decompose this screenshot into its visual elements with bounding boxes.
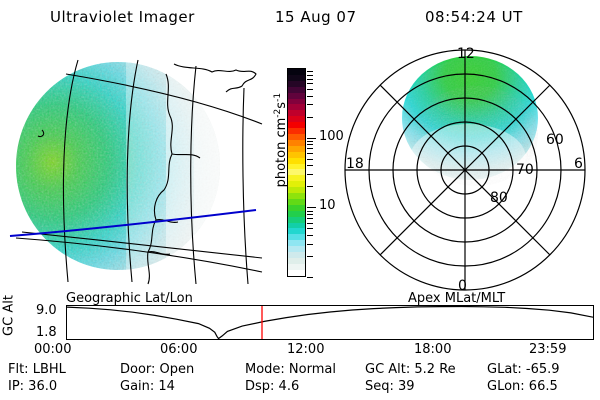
colorbar-minor-tick bbox=[307, 256, 313, 257]
status-field-ip: IP: 36.0 bbox=[8, 379, 57, 394]
geographic-image-panel[interactable] bbox=[6, 44, 264, 292]
colorbar-major-tick bbox=[307, 138, 316, 139]
colorbar-minor-tick bbox=[307, 228, 313, 229]
status-field-seq: Seq: 39 bbox=[365, 379, 415, 394]
orbit-altitude-curve bbox=[67, 307, 593, 339]
colorbar-minor-tick bbox=[307, 144, 313, 145]
colorbar-minor-tick bbox=[307, 75, 313, 76]
status-field-gain: Gain: 14 bbox=[120, 379, 175, 394]
colorbar-minor-tick bbox=[307, 277, 313, 278]
colorbar-minor-tick bbox=[307, 159, 313, 160]
colorbar-minor-tick bbox=[307, 153, 313, 154]
status-field-glon: GLon: 66.5 bbox=[487, 379, 558, 394]
status-field-dsp: Dsp: 4.6 bbox=[245, 379, 299, 394]
colorbar-minor-tick bbox=[307, 235, 313, 236]
mlt-label-18: 18 bbox=[346, 156, 364, 172]
colorbar-minor-tick bbox=[307, 223, 313, 224]
status-field-flt: Flt: LBHL bbox=[8, 362, 66, 377]
colorbar-minor-tick bbox=[307, 71, 313, 72]
colorbar-group: photon cm-2s-1 10010 bbox=[262, 44, 328, 294]
colorbar-minor-tick bbox=[307, 186, 313, 187]
colorbar-minor-tick bbox=[307, 174, 313, 175]
colorbar-minor-tick bbox=[307, 79, 313, 80]
colorbar-minor-tick bbox=[307, 218, 313, 219]
orbit-xtick-label: 12:00 bbox=[287, 342, 324, 357]
header-bar: Ultraviolet Imager 15 Aug 07 08:54:24 UT bbox=[0, 6, 600, 30]
colorbar-major-tick bbox=[307, 207, 316, 208]
colorbar-minor-tick bbox=[307, 83, 313, 84]
mlt-label-12: 12 bbox=[457, 46, 475, 62]
status-footer: Flt: LBHLDoor: OpenMode: NormalGC Alt: 5… bbox=[0, 360, 600, 400]
orbit-ytick-min: 1.8 bbox=[36, 325, 57, 340]
colorbar-minor-tick bbox=[307, 96, 313, 97]
colorbar-minor-tick bbox=[307, 211, 313, 212]
colorbar-minor-tick bbox=[307, 104, 313, 105]
colorbar-segment bbox=[288, 270, 305, 276]
orbit-plot-area[interactable] bbox=[66, 305, 594, 340]
instrument-title: Ultraviolet Imager bbox=[50, 8, 195, 26]
latitude-label-70: 70 bbox=[516, 162, 534, 178]
colorbar-minor-tick bbox=[307, 148, 313, 149]
status-field-door: Door: Open bbox=[120, 362, 194, 377]
colorbar-minor-tick bbox=[307, 165, 313, 166]
orbit-ytick-max: 9.0 bbox=[36, 303, 57, 318]
colorbar-label-exp1: -2 bbox=[273, 109, 283, 118]
colorbar-minor-tick bbox=[307, 244, 313, 245]
orbit-curve-svg bbox=[67, 306, 593, 339]
latitude-label-60: 60 bbox=[546, 132, 564, 148]
colorbar-gradient[interactable] bbox=[287, 68, 306, 277]
latitude-label-80: 80 bbox=[490, 190, 508, 206]
orbit-xtick-label: 23:59 bbox=[529, 342, 566, 357]
colorbar-minor-tick bbox=[307, 141, 313, 142]
colorbar-minor-tick bbox=[307, 214, 313, 215]
status-field-gc-alt: GC Alt: 5.2 Re bbox=[365, 362, 456, 377]
status-field-glat: GLat: -65.9 bbox=[487, 362, 560, 377]
orbit-altitude-strip[interactable]: GC Alt 9.0 1.8 00:0006:0012:0018:0023:59 bbox=[0, 300, 600, 356]
polar-dial-svg: 12 6 0 18 60 70 80 bbox=[330, 40, 596, 296]
colorbar-minor-tick bbox=[307, 89, 313, 90]
observation-time: 08:54:24 UT bbox=[425, 8, 523, 26]
mlt-spokes bbox=[345, 50, 585, 290]
colorbar-label-exp2: -1 bbox=[273, 93, 283, 102]
orbit-ylabel: GC Alt bbox=[2, 293, 17, 339]
observation-date: 15 Aug 07 bbox=[275, 8, 357, 26]
apex-polar-panel[interactable]: 12 6 0 18 60 70 80 bbox=[330, 40, 596, 296]
orbit-xtick-label: 00:00 bbox=[34, 342, 71, 357]
orbit-xtick-label: 06:00 bbox=[160, 342, 197, 357]
dayglow-emission bbox=[14, 54, 236, 284]
status-field-mode: Mode: Normal bbox=[245, 362, 336, 377]
mlt-label-6: 6 bbox=[574, 156, 583, 172]
colorbar-minor-tick bbox=[307, 117, 313, 118]
orbit-xtick-label: 18:00 bbox=[414, 342, 451, 357]
geographic-projection-svg bbox=[6, 44, 264, 292]
